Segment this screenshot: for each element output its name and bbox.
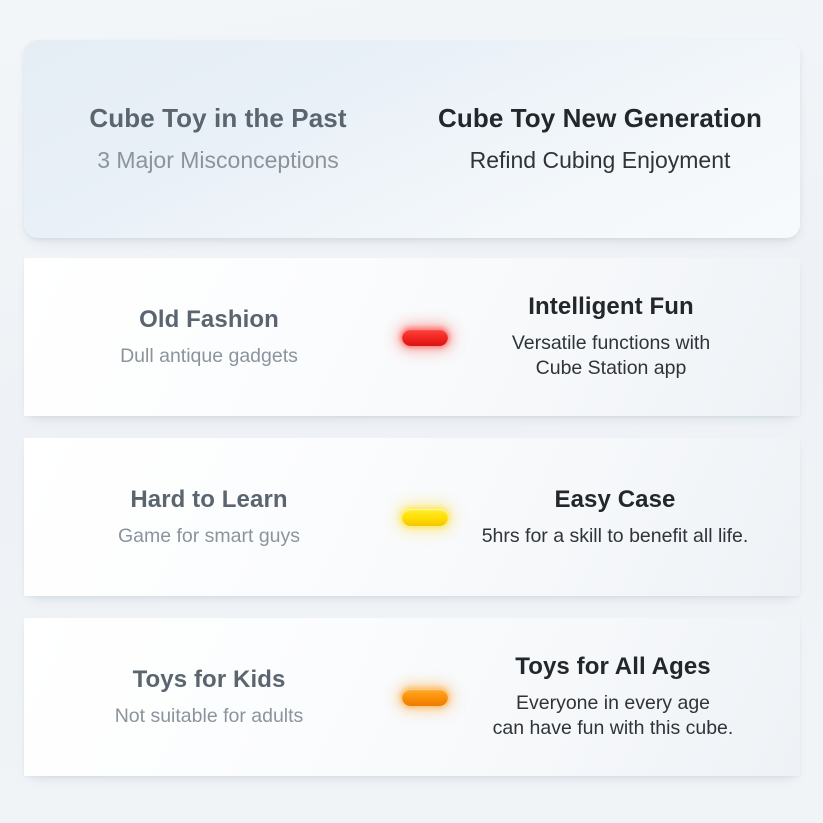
row-right-subtitle-line-2: can have fun with this cube. — [452, 716, 774, 741]
comparison-stack: Cube Toy in the Past 3 Major Misconcepti… — [24, 40, 800, 776]
pill-divider-icon — [402, 329, 448, 346]
row-divider-slot — [402, 689, 448, 706]
row-right-subtitle-line-1: Versatile functions with — [452, 331, 770, 356]
row-left-column: Old Fashion Dull antique gadgets — [24, 305, 402, 369]
row-divider-slot — [402, 509, 448, 526]
pill-divider-icon — [402, 689, 448, 706]
row-left-subtitle: Dull antique gadgets — [24, 344, 394, 369]
comparison-row-card: Old Fashion Dull antique gadgets Intelli… — [24, 258, 800, 416]
row-left-title: Old Fashion — [24, 305, 394, 336]
row-left-title: Toys for Kids — [24, 665, 394, 696]
hero-right-title: Cube Toy New Generation — [424, 102, 776, 135]
hero-left-subtitle: 3 Major Misconceptions — [24, 146, 412, 176]
row-card-inner: Toys for Kids Not suitable for adults To… — [24, 618, 800, 776]
row-right-subtitle: 5hrs for a skill to benefit all life. — [452, 524, 778, 549]
row-right-column: Intelligent Fun Versatile functions with… — [448, 292, 800, 381]
row-right-subtitle-line-1: Everyone in every age — [452, 691, 774, 716]
row-right-subtitle: Versatile functions with Cube Station ap… — [452, 331, 770, 382]
row-right-title: Easy Case — [452, 485, 778, 516]
row-left-subtitle: Game for smart guys — [24, 524, 394, 549]
comparison-row-card: Toys for Kids Not suitable for adults To… — [24, 618, 800, 776]
hero-right-column: Cube Toy New Generation Refind Cubing En… — [420, 102, 800, 175]
row-left-subtitle: Not suitable for adults — [24, 704, 394, 729]
hero-right-subtitle: Refind Cubing Enjoyment — [424, 146, 776, 176]
row-left-title: Hard to Learn — [24, 485, 394, 516]
row-right-subtitle-line-2: Cube Station app — [452, 356, 770, 381]
row-right-title: Intelligent Fun — [452, 292, 770, 323]
pill-divider-icon — [402, 509, 448, 526]
hero-card-inner: Cube Toy in the Past 3 Major Misconcepti… — [24, 40, 800, 238]
row-right-subtitle: Everyone in every age can have fun with … — [452, 691, 774, 742]
row-divider-slot — [402, 329, 448, 346]
row-right-column: Easy Case 5hrs for a skill to benefit al… — [448, 485, 800, 549]
hero-left-title: Cube Toy in the Past — [24, 102, 412, 135]
row-right-title: Toys for All Ages — [452, 652, 774, 683]
comparison-row-card: Hard to Learn Game for smart guys Easy C… — [24, 438, 800, 596]
row-card-inner: Old Fashion Dull antique gadgets Intelli… — [24, 258, 800, 416]
row-left-column: Hard to Learn Game for smart guys — [24, 485, 402, 549]
row-card-inner: Hard to Learn Game for smart guys Easy C… — [24, 438, 800, 596]
row-right-column: Toys for All Ages Everyone in every age … — [448, 652, 800, 741]
comparison-infographic-page: Cube Toy in the Past 3 Major Misconcepti… — [0, 0, 823, 823]
hero-comparison-card: Cube Toy in the Past 3 Major Misconcepti… — [24, 40, 800, 238]
hero-left-column: Cube Toy in the Past 3 Major Misconcepti… — [24, 102, 420, 175]
row-left-column: Toys for Kids Not suitable for adults — [24, 665, 402, 729]
row-right-subtitle-line-1: 5hrs for a skill to benefit all life. — [452, 524, 778, 549]
